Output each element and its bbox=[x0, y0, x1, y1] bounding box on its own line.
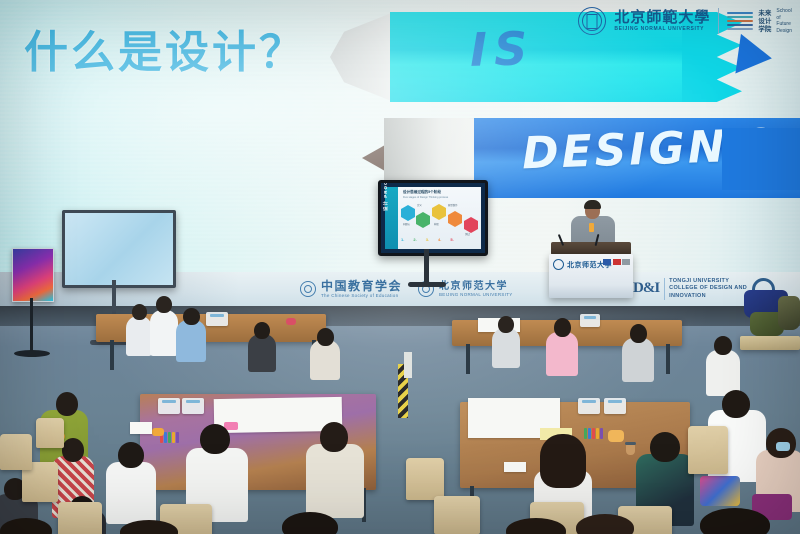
monitor-slide-subheader: Five stages of Design Thinking process bbox=[403, 196, 448, 199]
whiteboard bbox=[62, 210, 176, 288]
podium-seal-icon bbox=[553, 259, 564, 270]
bnu-banner-name-cn: 北京师范大学 bbox=[439, 281, 513, 293]
supply-bin bbox=[206, 312, 228, 326]
blue-band-decoration bbox=[722, 128, 800, 190]
hex-label-1: 同理心 bbox=[403, 222, 410, 226]
tape-roll bbox=[608, 430, 624, 442]
sfd-name-en: School of Future Design bbox=[776, 8, 792, 34]
school-of-future-design-logo: 未来 设计 学院 School of Future Design bbox=[727, 8, 792, 34]
screenshot-root: 什么是设计？ IS DESIGN ? 北京師範大學 BEIJING NORMAL… bbox=[0, 0, 800, 534]
hex-step-3 bbox=[432, 204, 446, 220]
supply-bin bbox=[158, 398, 180, 414]
hex-label-3: 构思 bbox=[434, 222, 439, 226]
bnu-wordmark: 北京師範大學 BEIJING NORMAL UNIVERSITY bbox=[614, 10, 710, 32]
chair bbox=[0, 434, 32, 470]
bnu-name-cn: 北京師範大學 bbox=[614, 10, 710, 25]
podium: 北京师范大学 bbox=[549, 254, 633, 298]
foreground-head bbox=[282, 512, 338, 534]
secondary-monitor: 设计 PROCESS 设计思维过程的5个阶段 Five stages of De… bbox=[378, 180, 488, 256]
hex-label-4: 原型制作 bbox=[448, 203, 458, 207]
monitor-slide-header: 设计思维过程的5个阶段 bbox=[403, 190, 441, 195]
foreground-head bbox=[700, 508, 770, 534]
coffee-cup bbox=[626, 444, 635, 455]
supply-bin bbox=[182, 398, 204, 414]
monitor-side-label: 设计 PROCESS bbox=[383, 198, 389, 211]
slide-logo-lockup: 北京師範大學 BEIJING NORMAL UNIVERSITY 未来 设计 学… bbox=[578, 4, 792, 38]
tongji-line-3: INNOVATION bbox=[669, 293, 747, 300]
blue-triangle-decoration bbox=[735, 34, 774, 78]
notebook bbox=[130, 422, 152, 434]
marker-set bbox=[584, 428, 603, 439]
monitor-base bbox=[408, 282, 446, 287]
chair bbox=[688, 426, 728, 474]
phone bbox=[504, 462, 526, 472]
bnu-seal-icon bbox=[578, 7, 606, 35]
classroom-area: 设计 PROCESS 设计思维过程的5个阶段 Five stages of De… bbox=[0, 306, 800, 534]
cse-name-cn: 中国教育学会 bbox=[321, 280, 402, 294]
cse-name-en: The Chinese Society of Education bbox=[321, 293, 402, 298]
table-leg bbox=[466, 344, 470, 374]
camo-bag bbox=[778, 296, 800, 330]
table-bags bbox=[740, 336, 800, 350]
pencil-cyan-tip bbox=[330, 12, 394, 102]
chair bbox=[36, 418, 64, 448]
supply-bin bbox=[580, 314, 600, 327]
poster-stand-pole bbox=[30, 298, 33, 352]
podium-flag-strip bbox=[603, 259, 630, 265]
sfd-name-cn: 未来 设计 学院 bbox=[758, 9, 771, 33]
monitor-stand bbox=[424, 249, 429, 283]
tongji-line-2: COLLEGE OF DESIGN AND bbox=[669, 285, 747, 292]
glue-stick bbox=[152, 428, 164, 436]
easel-board bbox=[404, 352, 412, 378]
tongji-line-1: TONGJI UNIVERSITY bbox=[669, 278, 747, 285]
monitor-slide-sidebar: 设计 PROCESS bbox=[385, 187, 398, 249]
sfd-bars-icon bbox=[727, 12, 753, 31]
table-item bbox=[286, 318, 296, 325]
sponsor-chinese-society-of-education: 中国教育学会 The Chinese Society of Education bbox=[300, 280, 402, 299]
cse-mark-icon bbox=[300, 281, 316, 297]
speaker-hair bbox=[584, 200, 601, 209]
chair bbox=[406, 458, 444, 500]
event-poster bbox=[12, 248, 54, 302]
bnu-name-en: BEIJING NORMAL UNIVERSITY bbox=[614, 27, 710, 32]
poster-stand-base bbox=[14, 350, 50, 357]
hex-step-4 bbox=[448, 211, 462, 227]
step-num-2: 2. bbox=[413, 237, 416, 242]
hex-step-5 bbox=[464, 217, 478, 233]
step-num-5: 5. bbox=[450, 237, 453, 242]
monitor-slide: 设计 PROCESS 设计思维过程的5个阶段 Five stages of De… bbox=[385, 187, 481, 249]
speaker-lanyard-badge bbox=[589, 223, 594, 232]
slide-title: 什么是设计？ bbox=[24, 16, 306, 80]
chair bbox=[434, 496, 480, 534]
hex-step-1 bbox=[401, 205, 415, 221]
face-mask bbox=[776, 442, 790, 451]
step-num-4: 4. bbox=[438, 237, 441, 242]
patterned-skirt bbox=[700, 476, 740, 506]
design-process-step-numbers: 1. 2. 3. 4. 5. bbox=[401, 237, 454, 242]
design-process-hexagons: 定义 原型制作 同理心 构思 测试 bbox=[401, 203, 481, 233]
hex-label-5: 测试 bbox=[465, 232, 470, 236]
logo-divider bbox=[718, 8, 719, 34]
di-wordmark: D&I bbox=[633, 280, 659, 297]
supply-bin bbox=[578, 398, 600, 414]
bnu-banner-name-en: BEIJING NORMAL UNIVERSITY bbox=[439, 292, 513, 297]
supply-bin bbox=[604, 398, 626, 414]
chair bbox=[58, 502, 102, 534]
table-leg bbox=[110, 340, 114, 370]
step-num-1: 1. bbox=[401, 237, 404, 242]
hex-step-2 bbox=[416, 212, 430, 228]
step-num-3: 3. bbox=[426, 237, 429, 242]
hex-label-2: 定义 bbox=[417, 203, 422, 207]
table-leg bbox=[666, 344, 670, 374]
slide-word-is: IS bbox=[469, 21, 535, 77]
